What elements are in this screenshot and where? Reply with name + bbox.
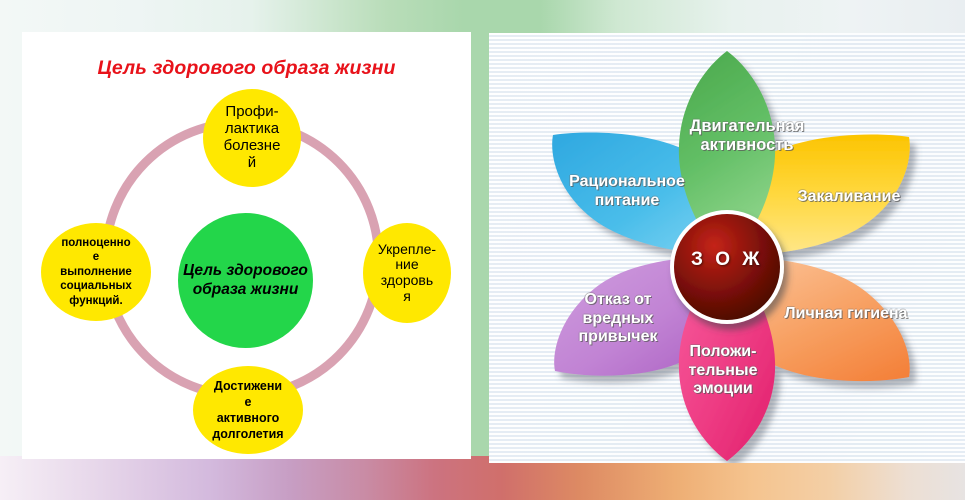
circle-node-longevity[interactable]: Достижениеактивногодолголетия — [193, 366, 303, 454]
circle-node-prevention-label: Профи-лактикаболезней — [220, 104, 285, 171]
circle-node-center[interactable]: Цель здорового образа жизни — [178, 213, 313, 348]
flower-core-circle[interactable] — [670, 210, 784, 324]
circle-node-prevention[interactable]: Профи-лактикаболезней — [203, 89, 301, 187]
circle-node-social-functions-label: полноценноевыполнениесоциальныхфункций. — [56, 236, 136, 308]
circle-node-social-functions[interactable]: полноценноевыполнениесоциальныхфункций. — [41, 223, 151, 321]
circle-node-strengthen-label: Укрепле-ниездоровья — [374, 242, 440, 305]
circle-node-center-label: Цель здорового образа жизни — [178, 262, 313, 300]
circle-node-longevity-label: Достижениеактивногодолголетия — [208, 378, 287, 442]
goal-of-healthy-lifestyle-circle-diagram: Цель здорового образа жизни Цель здорово… — [23, 33, 470, 458]
zozh-flower-diagram: Двигательнаяактивность Рациональноепитан… — [489, 33, 965, 463]
flower-petals-svg — [489, 33, 965, 463]
circle-node-strengthen[interactable]: Укрепле-ниездоровья — [363, 223, 451, 323]
circle-diagram-title: Цель здорового образа жизни — [23, 57, 470, 80]
